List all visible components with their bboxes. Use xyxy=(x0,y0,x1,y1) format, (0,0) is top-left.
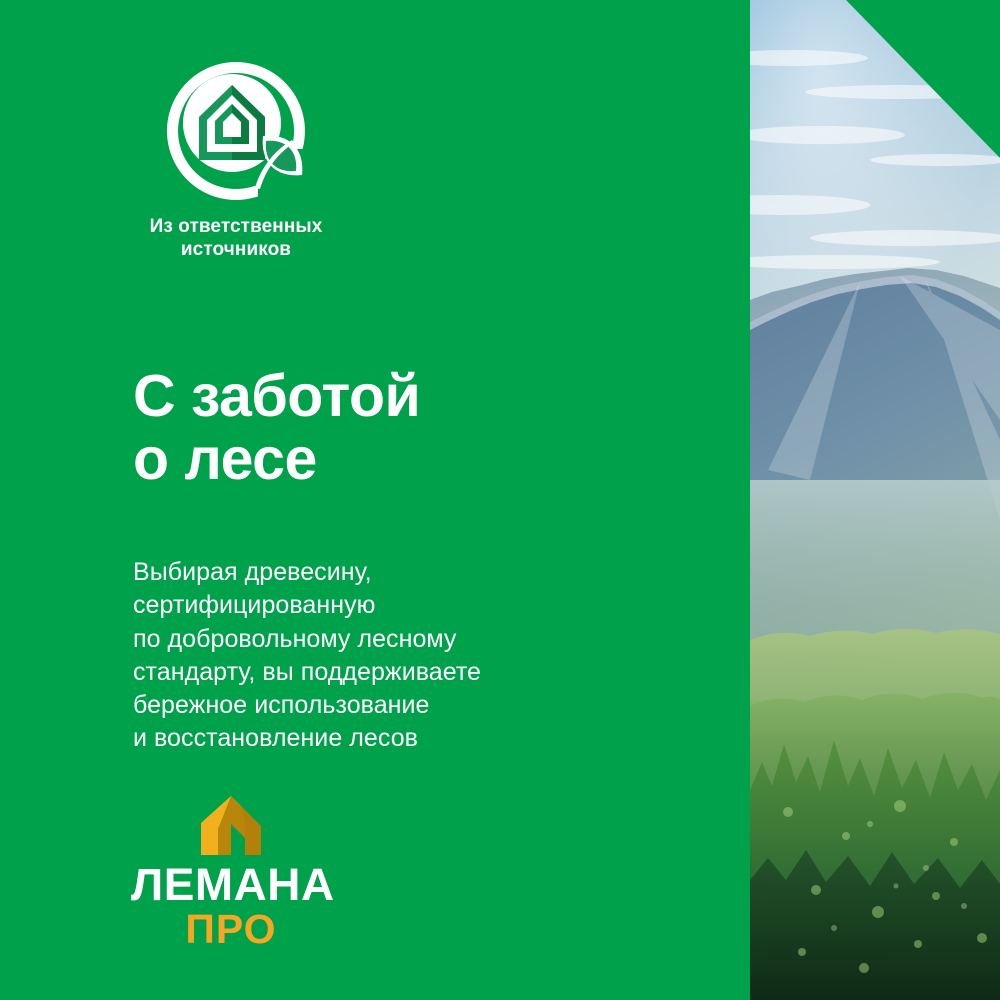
brand-sub: ПРО xyxy=(133,909,329,951)
headline-line-2: о лесе xyxy=(133,428,420,491)
responsible-sources-badge: Из ответственных источников xyxy=(131,57,341,261)
body-copy-line-5: бережное использование xyxy=(133,689,481,722)
badge-caption-line-2: источников xyxy=(131,238,341,261)
headline-line-1: С заботой xyxy=(133,365,420,428)
body-copy-line-2: сертифицированную xyxy=(133,589,481,622)
house-leaf-circle-icon xyxy=(162,57,310,205)
brand-name: ЛЕМАНА xyxy=(131,863,331,907)
body-copy-line-4: стандарту, вы поддерживаете xyxy=(133,656,481,689)
body-copy: Выбирая древесину, сертифицированную по … xyxy=(133,556,481,756)
badge-caption: Из ответственных источников xyxy=(131,215,341,261)
body-copy-line-3: по добровольному лесному xyxy=(133,623,481,656)
poster-canvas: Из ответственных источников С заботой о … xyxy=(0,0,1000,1000)
body-copy-line-6: и восстановление лесов xyxy=(133,722,481,755)
body-copy-line-1: Выбирая древесину, xyxy=(133,556,481,589)
lemana-house-roof-icon xyxy=(198,793,264,859)
page-title: С заботой о лесе xyxy=(133,365,420,491)
lemana-pro-logo: ЛЕМАНА ПРО xyxy=(133,793,329,951)
content-column: Из ответственных источников С заботой о … xyxy=(0,0,750,1000)
forest-mountain-landscape-photo xyxy=(750,0,1000,1000)
badge-caption-line-1: Из ответственных xyxy=(131,215,341,238)
